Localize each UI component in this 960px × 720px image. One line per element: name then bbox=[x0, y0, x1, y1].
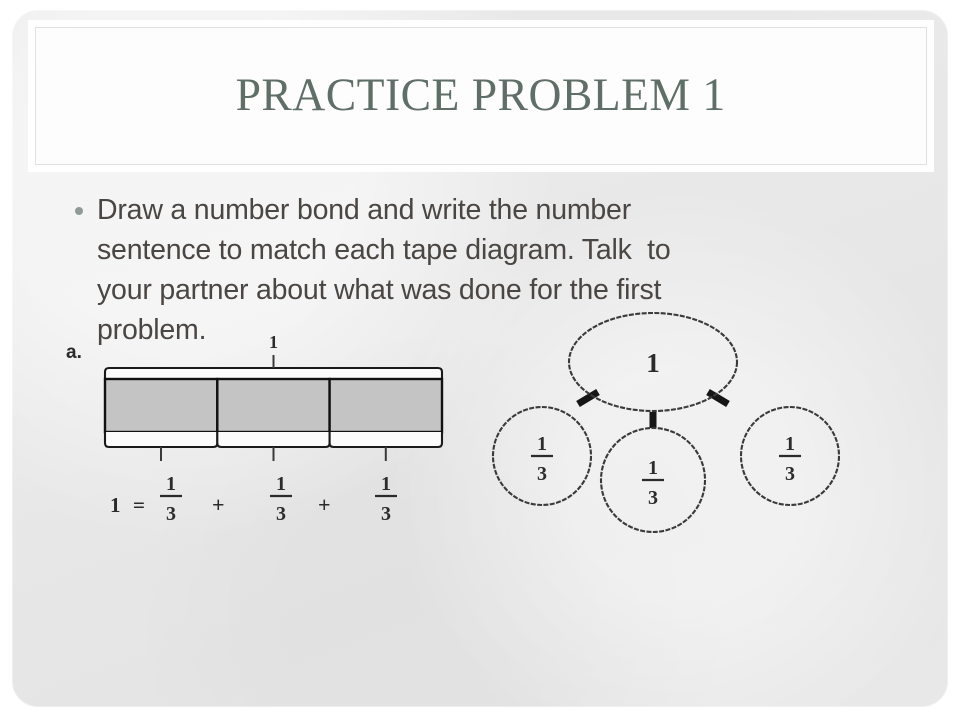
body-placeholder: Draw a number bond and write the number … bbox=[70, 190, 710, 350]
bullet-item: Draw a number bond and write the number … bbox=[70, 190, 710, 350]
page-title: Practice Problem 1 bbox=[236, 71, 726, 120]
title-placeholder: Practice Problem 1 bbox=[35, 27, 927, 165]
slide-canvas: Practice Problem 1 Draw a number bond an… bbox=[0, 0, 960, 720]
bullet-text: Draw a number bond and write the number … bbox=[97, 194, 678, 346]
bullet-dot-icon bbox=[75, 207, 83, 215]
